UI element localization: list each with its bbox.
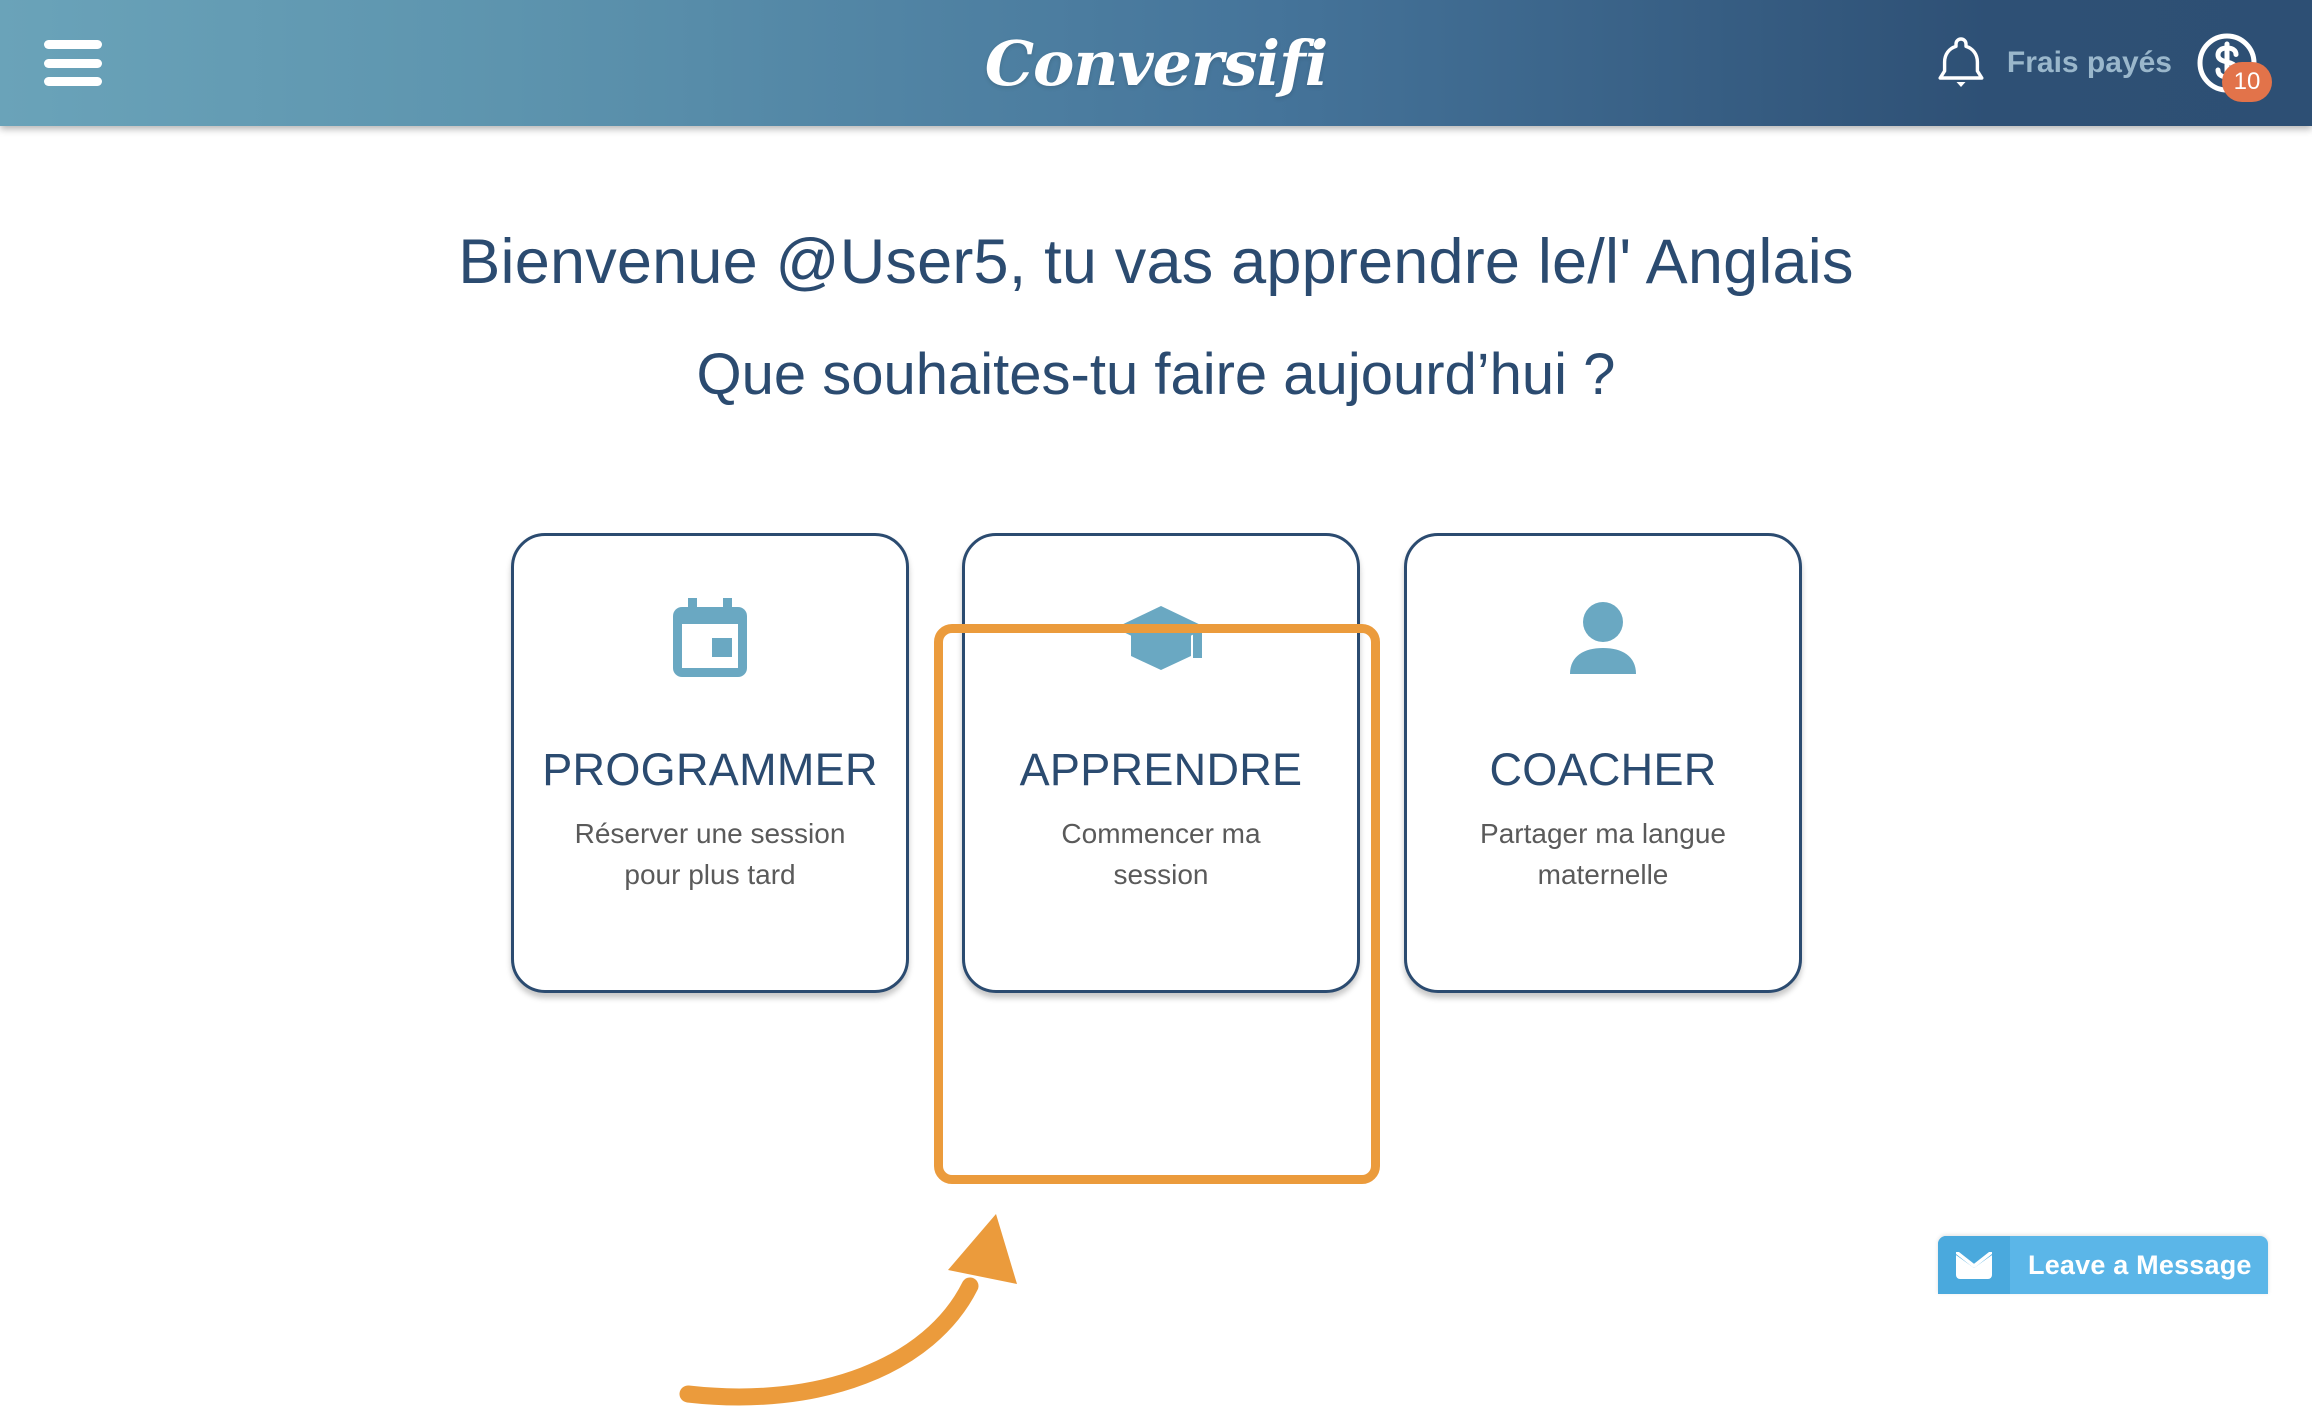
hamburger-bar [44,59,102,68]
bell-icon[interactable] [1935,35,1987,91]
action-cards: PROGRAMMER Réserver une session pour plu… [0,126,2312,1294]
brand-logo[interactable]: Conversifi [985,27,1328,100]
card-subtitle: Réserver une session pour plus tard [565,814,855,895]
envelope-icon [1956,1252,1992,1279]
credits-badge: 10 [2222,62,2272,102]
header-actions: Frais payés 10 [1935,0,2290,126]
card-icon-container [1564,598,1642,680]
calendar-icon [671,598,749,680]
credits-widget[interactable]: 10 [2194,30,2260,96]
card-subtitle: Partager ma langue maternelle [1458,814,1748,895]
card-coacher[interactable]: COACHER Partager ma langue maternelle [1404,533,1802,993]
main-content: Bienvenue @User5, tu vas apprendre le/l'… [0,126,2312,1294]
card-title: COACHER [1489,747,1716,792]
leave-a-message-label: Leave a Message [2010,1250,2268,1281]
app-header: Conversifi Frais payés 10 [0,0,2312,126]
card-icon-container [1113,598,1209,680]
card-title: PROGRAMMER [542,747,878,792]
card-apprendre[interactable]: APPRENDRE Commencer ma session [962,533,1360,993]
card-subtitle: Commencer ma session [1016,814,1306,895]
hamburger-bar [44,77,102,86]
card-title: APPRENDRE [1020,747,1303,792]
envelope-icon-panel [1938,1236,2010,1294]
leave-a-message-widget[interactable]: Leave a Message [1938,1236,2268,1294]
card-icon-container [671,598,749,680]
hamburger-menu-icon[interactable] [44,40,102,86]
fees-paid-label: Frais payés [2007,46,2172,80]
card-programmer[interactable]: PROGRAMMER Réserver une session pour plu… [511,533,909,993]
person-icon [1564,598,1642,680]
graduation-cap-icon [1113,598,1209,680]
hamburger-bar [44,40,102,49]
